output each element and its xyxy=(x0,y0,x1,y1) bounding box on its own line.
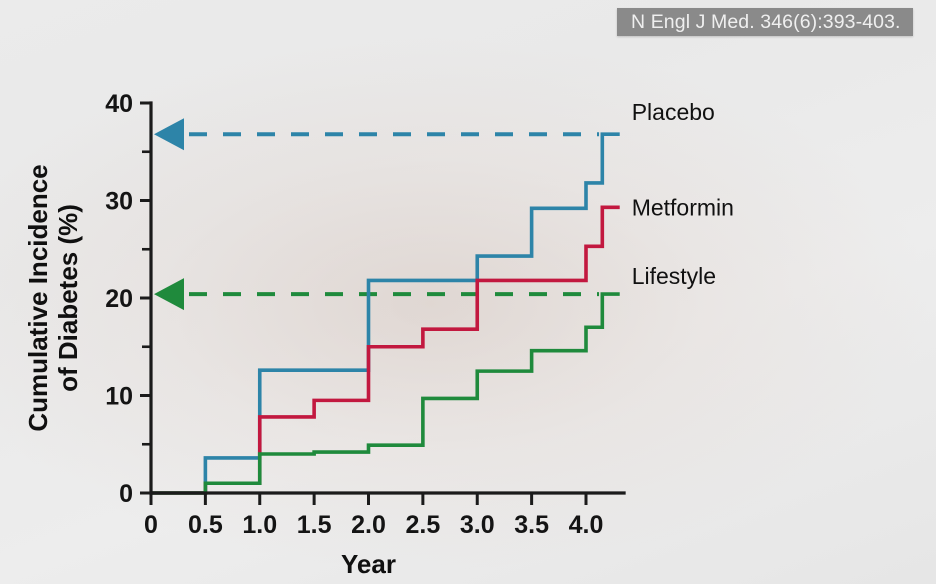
x-tick-label: 0 xyxy=(144,511,158,539)
y-tick-label: 40 xyxy=(105,90,133,118)
axis-tick-labels: 01020304000.51.01.52.02.53.03.54.0 xyxy=(105,90,603,539)
y-axis-title: Cumulative Incidenceof Diabetes (%) xyxy=(23,164,83,431)
series-label-metformin: Metformin xyxy=(632,194,734,220)
x-tick-label: 2.0 xyxy=(351,511,386,539)
x-tick-label: 3.5 xyxy=(514,511,549,539)
x-tick-label: 2.5 xyxy=(405,511,440,539)
cumulative-incidence-chart: 01020304000.51.01.52.02.53.03.54.0 YearC… xyxy=(0,0,936,584)
y-tick-label: 0 xyxy=(119,480,133,508)
series-labels: PlaceboMetforminLifestyle xyxy=(632,99,734,289)
series-line-lifestyle xyxy=(151,294,620,493)
series-label-lifestyle: Lifestyle xyxy=(632,263,716,289)
series-line-placebo xyxy=(151,134,620,493)
x-tick-label: 4.0 xyxy=(569,511,604,539)
x-tick-label: 3.0 xyxy=(460,511,495,539)
x-tick-label: 1.0 xyxy=(242,511,277,539)
lifestyle-reference-arrow-icon xyxy=(154,278,184,310)
x-tick-label: 1.5 xyxy=(297,511,332,539)
x-axis-title: Year xyxy=(341,549,396,579)
y-tick-label: 20 xyxy=(105,285,133,313)
placebo-reference-arrow-icon xyxy=(154,118,184,150)
y-tick-label: 10 xyxy=(105,383,133,411)
y-tick-label: 30 xyxy=(105,188,133,216)
x-tick-label: 0.5 xyxy=(188,511,223,539)
screenshot-stage: N Engl J Med. 346(6):393-403. 0102030400… xyxy=(0,0,936,584)
plot-series xyxy=(151,134,620,493)
series-label-placebo: Placebo xyxy=(632,99,715,125)
